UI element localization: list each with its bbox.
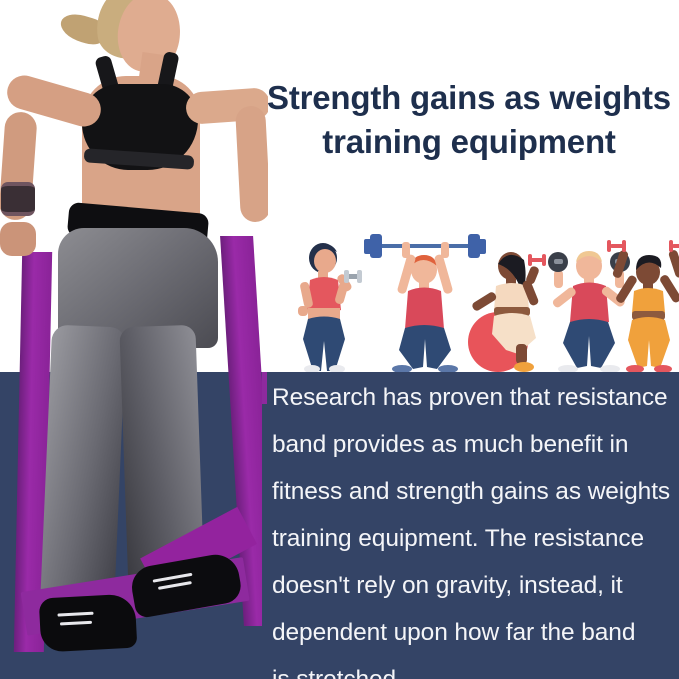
product-marketing-poster: Strength gains as weights training equip…	[0, 0, 679, 679]
body-copy-line: training equipment. The resistance	[272, 515, 676, 562]
body-copy-line: fitness and strength gains as weights	[272, 468, 676, 515]
leggings-leg-left	[40, 325, 126, 614]
dumbbell-icon	[548, 252, 568, 272]
illustration-woman-dumbbell-curl	[282, 242, 368, 372]
body-copy-line: is stretched.	[272, 656, 676, 679]
poster-headline: Strength gains as weights training equip…	[262, 76, 676, 164]
body-copy-line: doesn't rely on gravity, instead, it	[272, 562, 676, 609]
smart-watch	[1, 182, 35, 216]
model-fist-left	[0, 222, 36, 256]
panel-accent-bar	[262, 372, 267, 404]
fitness-illustration-strip	[276, 214, 676, 374]
dumbbell-icon	[607, 240, 626, 252]
body-copy-line: band provides as much benefit in	[272, 421, 676, 468]
illustration-woman-arms-raised	[602, 232, 679, 372]
body-copy-line: dependent upon how far the band	[272, 609, 676, 656]
body-copy-line: Research has proven that resistance	[272, 374, 676, 421]
shoe-lace	[158, 581, 192, 590]
shoe-lace	[57, 612, 93, 617]
body-copy-text: Research has proven that resistance band…	[272, 374, 676, 679]
shoe-lace	[60, 621, 92, 626]
sneaker-left	[39, 594, 138, 653]
product-photo	[0, 0, 268, 679]
